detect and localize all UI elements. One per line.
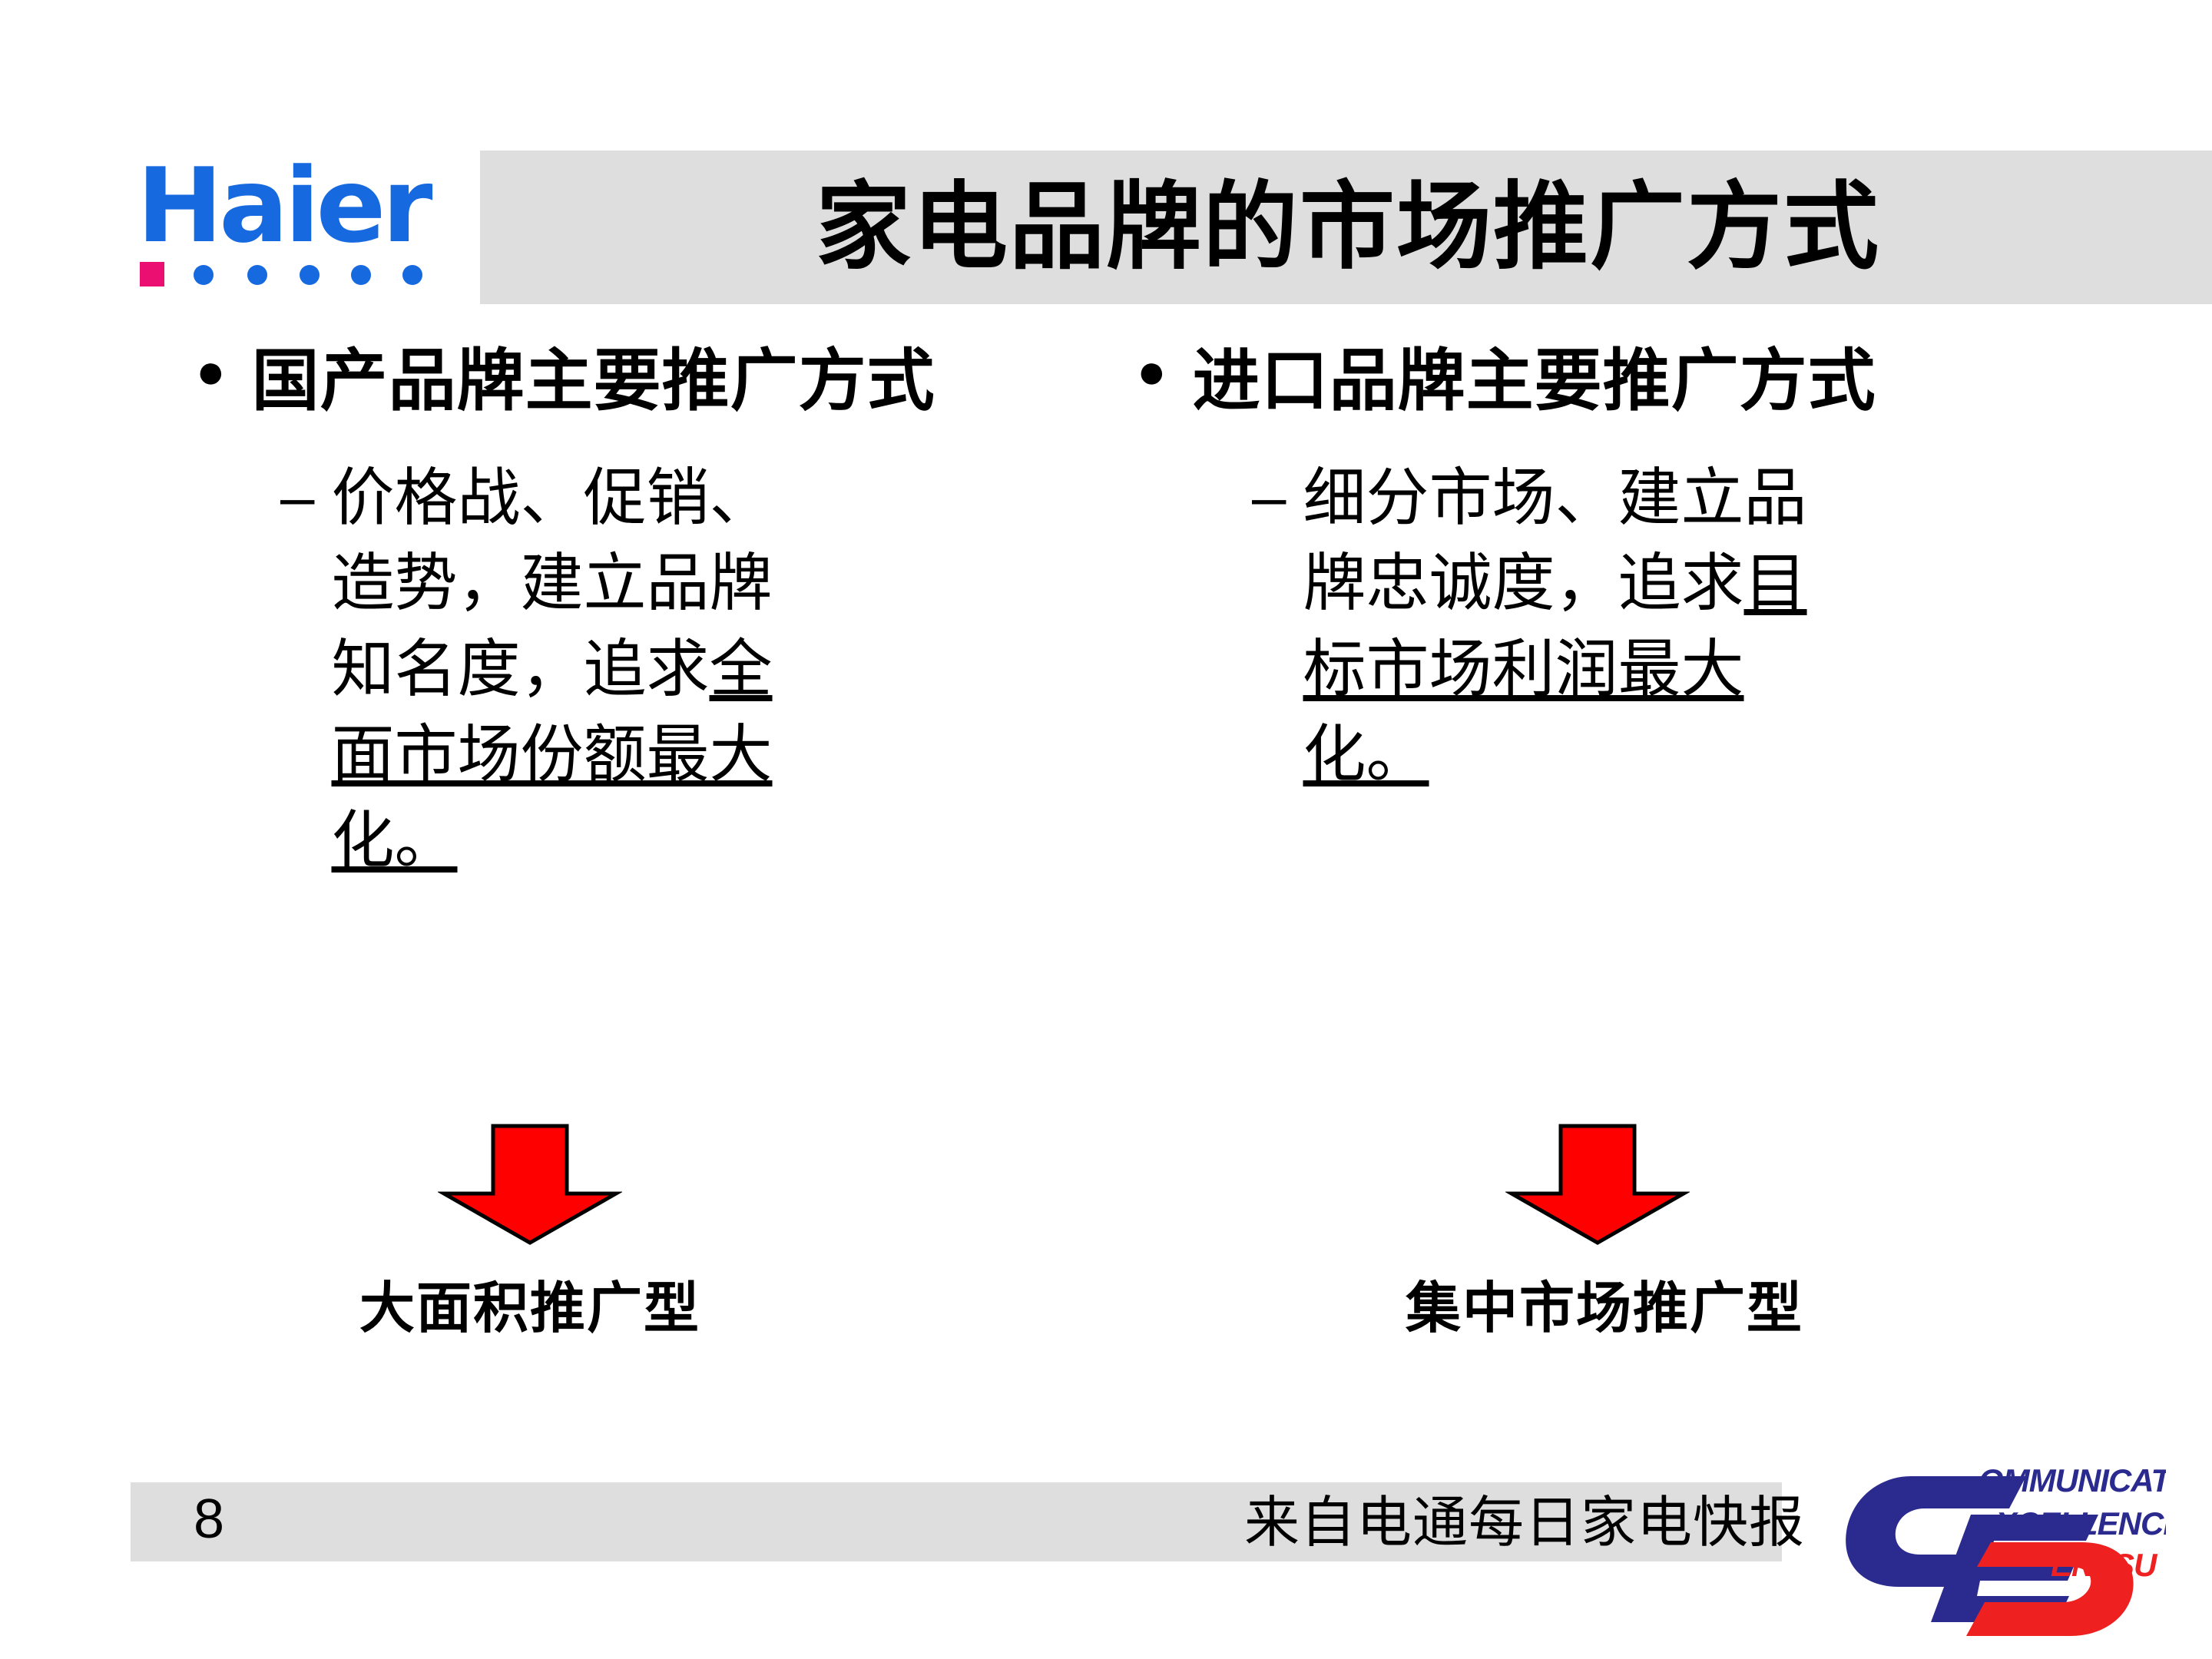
- bullet-item: ● 国产品牌主要推广方式: [196, 338, 1102, 425]
- content-column-domestic: ● 国产品牌主要推广方式 – 价格战、促销、造势，建立品牌知名度，追求全面市场份…: [196, 338, 1102, 883]
- conclusion-block-domestic: 大面积推广型: [338, 1123, 722, 1343]
- ced-line1: OMMUNICATIONS: [1979, 1462, 2166, 1498]
- sub-bullet-dash-icon: –: [1252, 455, 1286, 539]
- haier-dot-icon: [300, 265, 320, 285]
- down-arrow-icon: [1505, 1123, 1690, 1246]
- sub-bullet-dash-icon: –: [280, 455, 315, 539]
- haier-pink-square-icon: [140, 262, 164, 286]
- ced-logo-graphic: OMMUNICATIONS XCELLENCE ENTSU: [1828, 1444, 2166, 1640]
- page-title: 家电品牌的市场推广方式: [530, 151, 2166, 304]
- ced-logo: OMMUNICATIONS XCELLENCE ENTSU: [1828, 1444, 2166, 1640]
- haier-dot-row: [140, 262, 447, 293]
- sub-bullet-item: – 细分市场、建立品牌忠诚度，追求目标市场利润最大化。: [1252, 455, 2104, 798]
- haier-logo: Haier: [132, 152, 459, 294]
- content-column-imported: ● 进口品牌主要推广方式 – 细分市场、建立品牌忠诚度，追求目标市场利润最大化。: [1137, 338, 2104, 798]
- down-arrow-icon: [438, 1123, 622, 1246]
- ced-line2: XCELLENCE: [1994, 1505, 2166, 1541]
- haier-wordmark: Haier: [137, 152, 429, 260]
- haier-dot-icon: [402, 265, 422, 285]
- haier-dot-icon: [247, 265, 267, 285]
- bullet-heading: 进口品牌主要推广方式: [1193, 338, 1876, 425]
- haier-dot-icon: [351, 265, 371, 285]
- sub-bullet-item: – 价格战、促销、造势，建立品牌知名度，追求全面市场份额最大化。: [280, 455, 1102, 884]
- page-number: 8: [194, 1492, 224, 1547]
- sub-bullet-text: 细分市场、建立品牌忠诚度，追求目标市场利润最大化。: [1303, 455, 1841, 798]
- haier-dot-icon: [194, 265, 214, 285]
- footer-source-text: 来自电通每日家电快报: [1244, 1488, 1805, 1558]
- ced-line3: ENTSU: [2051, 1547, 2158, 1583]
- sub-bullet-text: 价格战、促销、造势，建立品牌知名度，追求全面市场份额最大化。: [332, 455, 785, 884]
- bullet-item: ● 进口品牌主要推广方式: [1137, 338, 2104, 425]
- arrow-caption: 集中市场推广型: [1406, 1263, 1790, 1343]
- conclusion-block-imported: 集中市场推广型: [1406, 1123, 1790, 1343]
- bullet-heading: 国产品牌主要推广方式: [252, 338, 935, 425]
- bullet-dot-icon: ●: [1137, 343, 1167, 401]
- arrow-caption: 大面积推广型: [338, 1263, 722, 1343]
- bullet-dot-icon: ●: [196, 343, 226, 401]
